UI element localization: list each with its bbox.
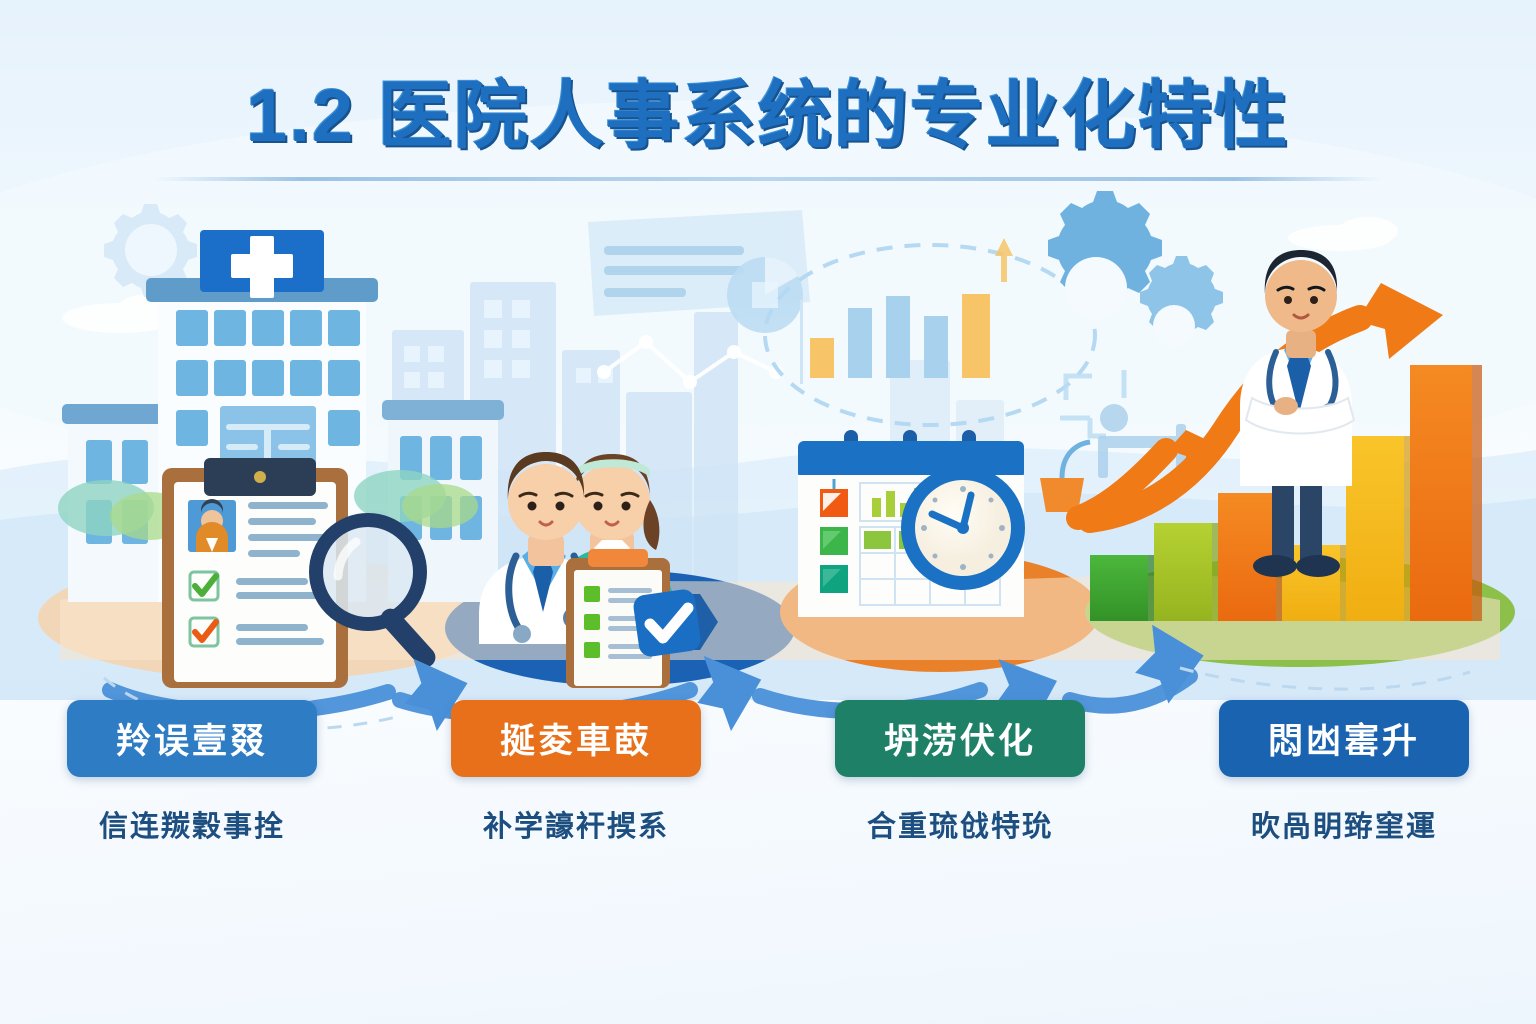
step-2-badge[interactable]: 挻夌車菣 [451,700,701,777]
flow-step-3[interactable]: 坍涝伏化 合重琉戗特玧 [768,700,1152,845]
page-title-text: 1.2 医院人事系统的专业化特性 [246,74,1289,157]
flow-step-2[interactable]: 挻夌車菣 补学譹衦捑系 [384,700,768,845]
bar-5 [1346,436,1404,621]
step-1-badge[interactable]: 羚误壹叕 [67,700,317,777]
page-title-block: 1.2 医院人事系统的专业化特性 [0,56,1536,181]
bar-2 [1154,523,1212,621]
flow-step-badges: 羚误壹叕 信连羰穀事拴 挻夌車菣 补学譹衦捑系 坍涝伏化 合重琉戗特玧 悶凼寚升… [0,700,1536,845]
flow-step-4[interactable]: 悶凼寚升 欥咼眀臶窐運 [1152,700,1536,845]
step-4-badge[interactable]: 悶凼寚升 [1219,700,1469,777]
step-1-subtitle: 信连羰穀事拴 [99,803,285,845]
bar-6 [1410,365,1472,621]
nurse-face [574,464,650,540]
step-4-subtitle: 欥咼眀臶窐運 [1251,803,1437,845]
bar-1 [1090,555,1148,621]
title-divider [153,177,1383,181]
clock-icon [901,466,1025,590]
doctor2-face [1265,260,1337,332]
step-2-subtitle: 补学譹衦捑系 [483,803,669,845]
calendar-cell-marked-1 [864,531,891,549]
step-3-badge[interactable]: 坍涝伏化 [835,700,1085,777]
step-3-subtitle: 合重琉戗特玧 [867,803,1053,845]
flow-step-1[interactable]: 羚误壹叕 信连羰穀事拴 [0,700,384,845]
scene-calendar-clock [798,430,1025,617]
doctor-face [508,464,584,540]
page-title: 1.2 医院人事系统的专业化特性 [0,56,1536,163]
